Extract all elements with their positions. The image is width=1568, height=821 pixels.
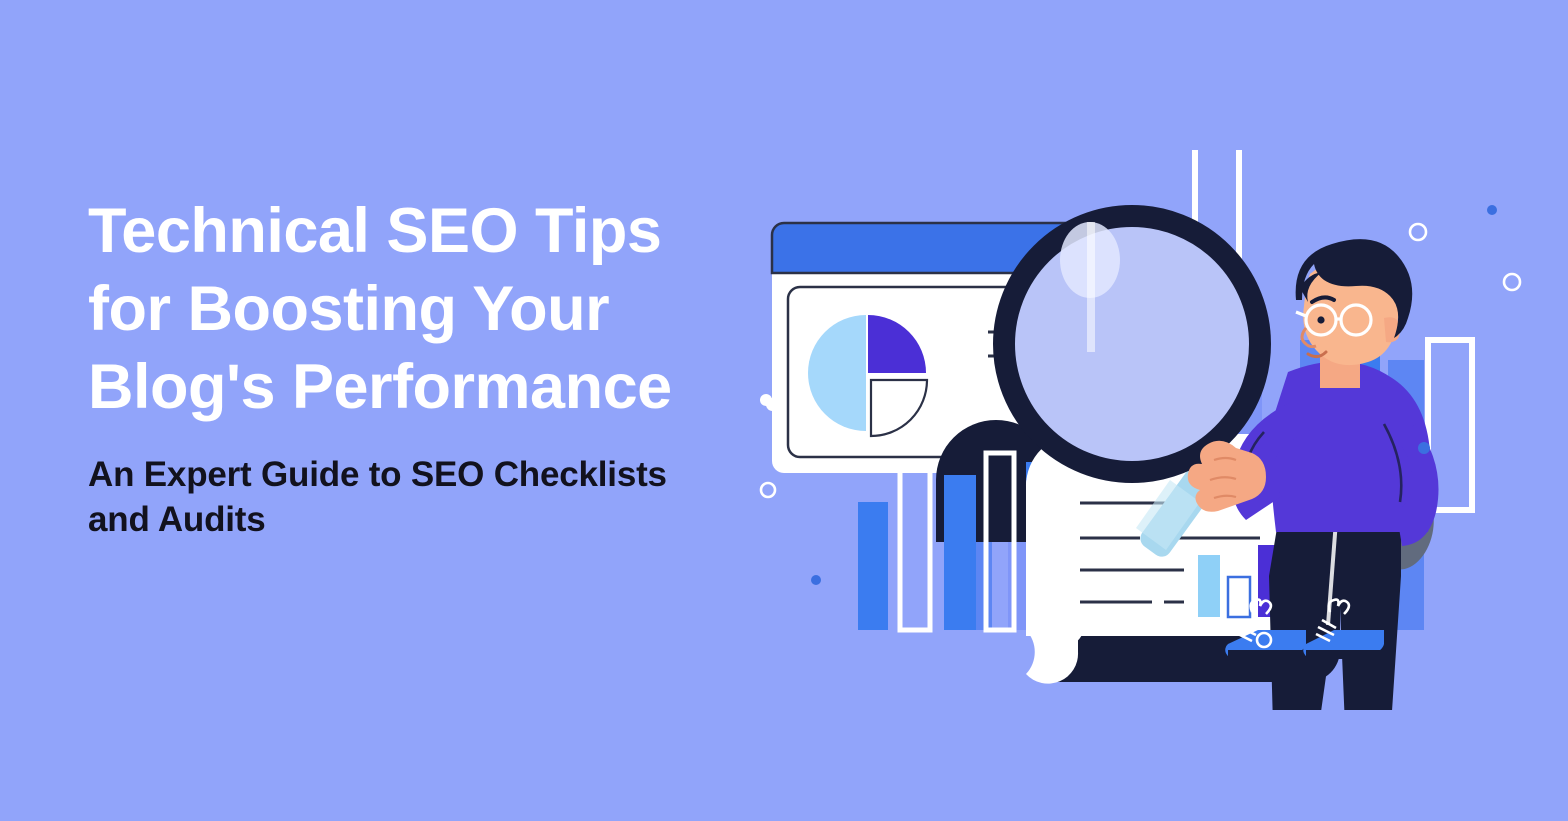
page-title: Technical SEO Tips for Boosting Your Blo…	[88, 192, 768, 426]
seo-banner: Technical SEO Tips for Boosting Your Blo…	[0, 0, 1568, 821]
deco-dot-filled	[1487, 205, 1497, 215]
deco-dot-filled	[1418, 442, 1430, 454]
deco-dot-filled	[760, 394, 772, 406]
deco-dot-filled	[811, 575, 821, 585]
seo-illustration	[740, 150, 1560, 710]
banner-text-block: Technical SEO Tips for Boosting Your Blo…	[88, 192, 768, 542]
deco-dot-ring	[761, 483, 775, 497]
deco-dot-ring	[1410, 224, 1426, 240]
deco-dot-ring	[1504, 274, 1520, 290]
page-subtitle: An Expert Guide to SEO Checklists and Au…	[88, 452, 768, 542]
